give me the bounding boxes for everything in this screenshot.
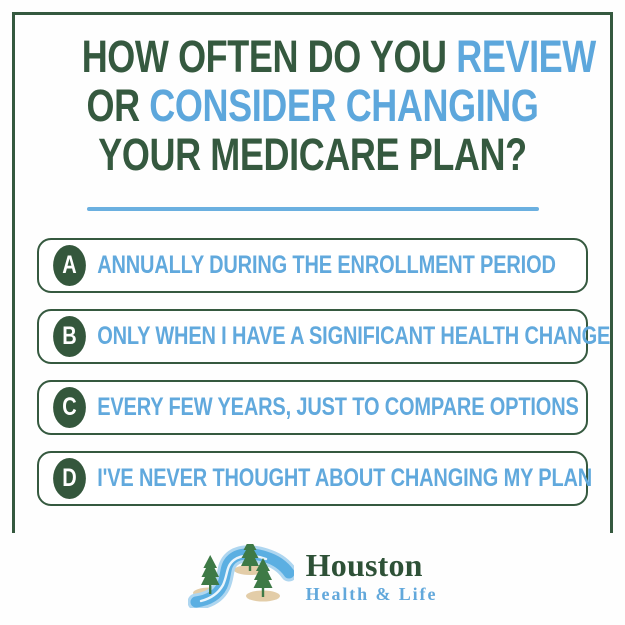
option-badge-a: A [53, 245, 86, 286]
heading-line-1-blue: REVIEW [456, 31, 596, 82]
option-badge-c: C [53, 387, 86, 428]
heading-line-2-green: OR [86, 80, 149, 131]
heading-line-3: YOUR MEDICARE PLAN? [82, 130, 544, 179]
option-label-a: ANNUALLY DURING THE ENROLLMENT PERIOD [94, 253, 556, 278]
option-row-b[interactable]: B ONLY WHEN I HAVE A SIGNIFICANT HEALTH … [37, 309, 588, 364]
option-row-a[interactable]: A ANNUALLY DURING THE ENROLLMENT PERIOD [37, 238, 588, 293]
heading-divider [87, 207, 539, 211]
poll-poster: HOW OFTEN DO YOU REVIEW OR CONSIDER CHAN… [0, 0, 625, 625]
brand-wordmark: Houston Health & Life [306, 549, 438, 603]
heading-line-1: HOW OFTEN DO YOU REVIEW [82, 32, 544, 81]
option-row-c[interactable]: C EVERY FEW YEARS, JUST TO COMPARE OPTIO… [37, 380, 588, 435]
brand-logo: Houston Health & Life [0, 533, 625, 619]
page-title: HOW OFTEN DO YOU REVIEW OR CONSIDER CHAN… [24, 32, 601, 179]
heading-line-2-blue: CONSIDER CHANGING [149, 80, 538, 131]
option-label-c: EVERY FEW YEARS, JUST TO COMPARE OPTIONS [94, 395, 579, 420]
heading-line-1-green: HOW OFTEN DO YOU [82, 31, 457, 82]
river-with-trees-icon [188, 544, 294, 608]
heading-line-2: OR CONSIDER CHANGING [82, 81, 544, 130]
option-label-b: ONLY WHEN I HAVE A SIGNIFICANT HEALTH CH… [94, 324, 610, 349]
answer-options-list: A ANNUALLY DURING THE ENROLLMENT PERIOD … [37, 238, 588, 506]
brand-tagline: Health & Life [306, 585, 438, 603]
heading-divider-wrap [0, 207, 625, 211]
option-row-d[interactable]: D I'VE NEVER THOUGHT ABOUT CHANGING MY P… [37, 451, 588, 506]
option-badge-b: B [53, 316, 86, 357]
brand-name: Houston [306, 549, 423, 581]
option-badge-d: D [53, 458, 86, 499]
option-label-d: I'VE NEVER THOUGHT ABOUT CHANGING MY PLA… [94, 466, 592, 491]
